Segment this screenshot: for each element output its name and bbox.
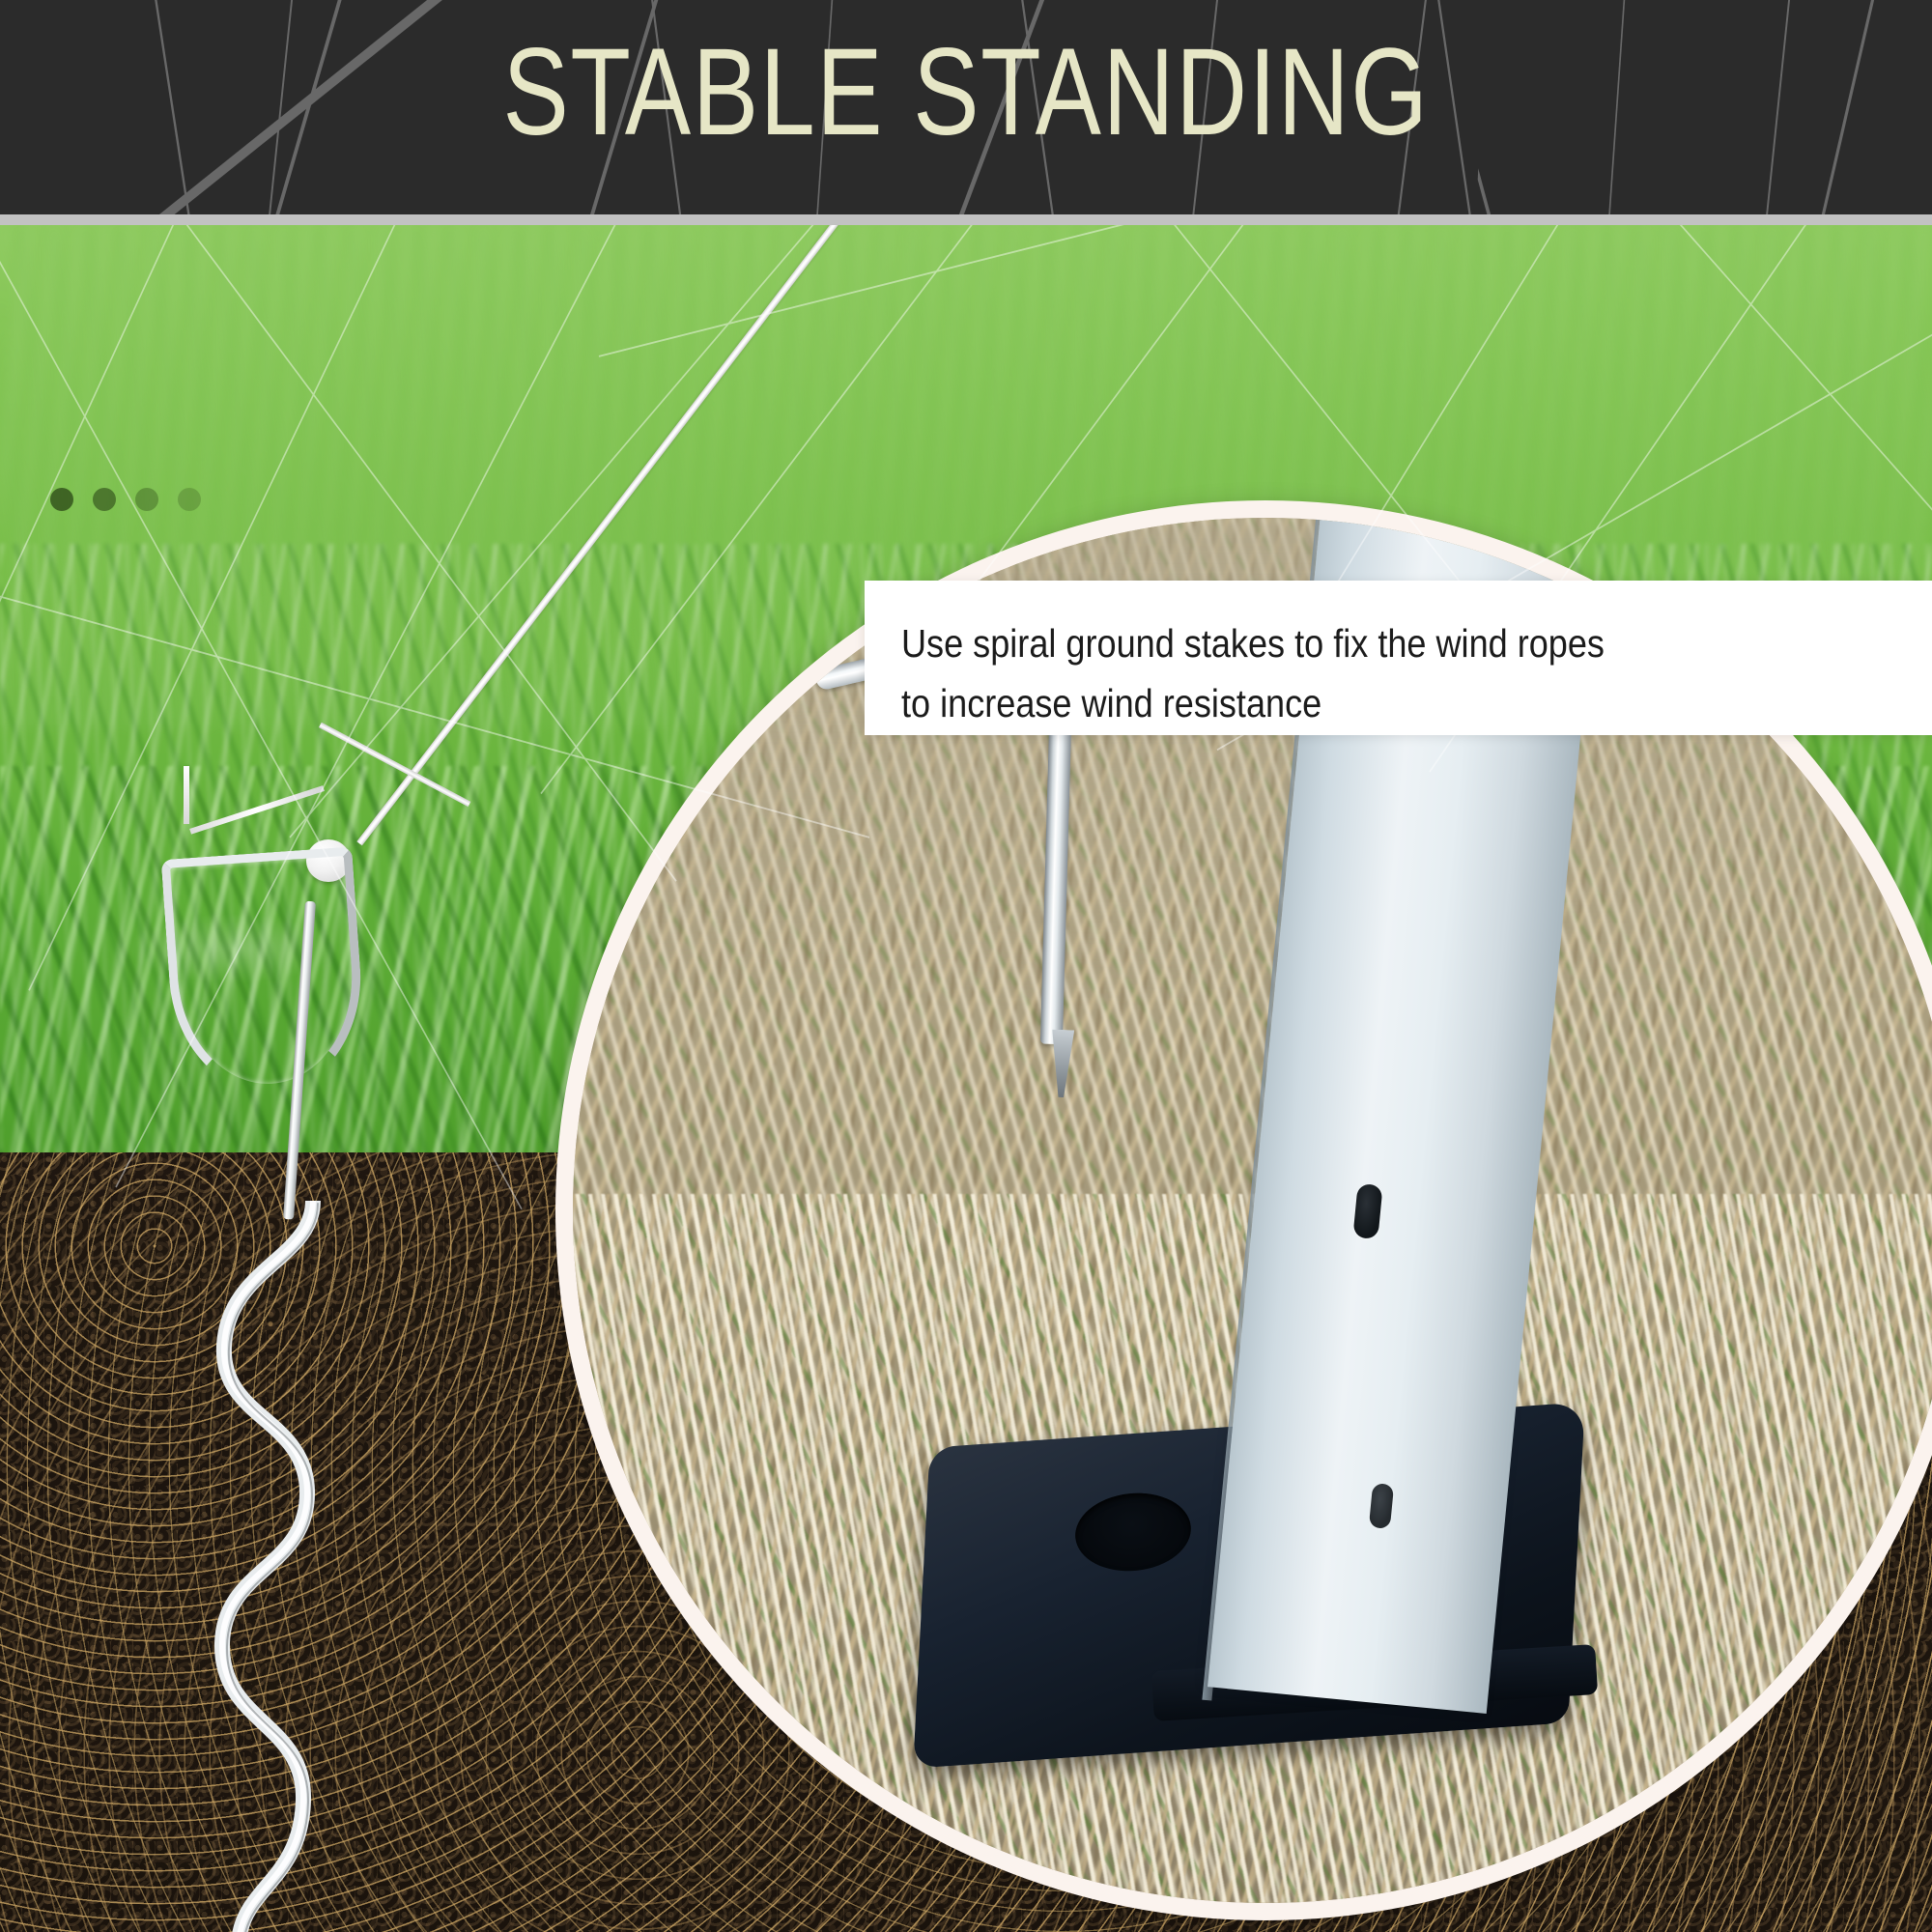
pagination-dot-4[interactable]	[178, 488, 201, 511]
wind-rope-callout-line1: Use spiral ground stakes to fix the wind…	[901, 613, 1808, 673]
page-title: STABLE STANDING	[193, 31, 1739, 155]
pagination-dot-1[interactable]	[50, 488, 73, 511]
product-feature-panel: STABLE STANDING	[0, 0, 1932, 1932]
header-divider	[0, 214, 1932, 225]
spiral-stake-corkscrew	[189, 1201, 363, 1932]
wind-rope-callout-line2: to increase wind resistance	[901, 673, 1808, 733]
pagination-dot-3[interactable]	[135, 488, 158, 511]
header-banner: STABLE STANDING	[0, 0, 1932, 214]
photo-stage: Use spiral ground stakes to fix the wind…	[0, 225, 1932, 1932]
rope-bend-vertical	[184, 766, 189, 824]
wind-rope-callout: Use spiral ground stakes to fix the wind…	[865, 581, 1932, 735]
pagination-dots[interactable]	[50, 488, 201, 511]
pagination-dot-2[interactable]	[93, 488, 116, 511]
